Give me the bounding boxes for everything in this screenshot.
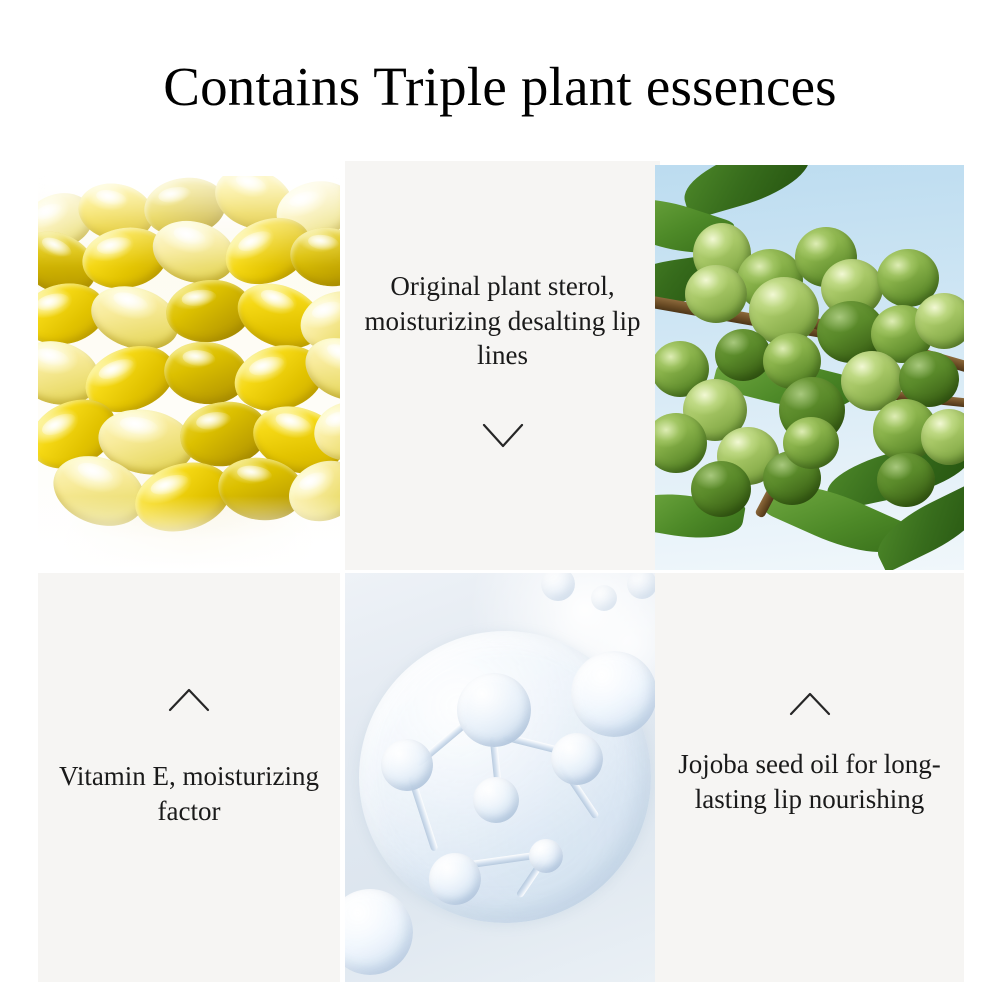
infographic-page: Contains Triple plant essences — [0, 0, 1000, 1000]
transparent-molecule-bubble-photo — [345, 573, 660, 982]
molecule-image-panel — [345, 573, 660, 982]
sterol-text-panel: Original plant sterol, moisturizing desa… — [345, 161, 660, 570]
jojoba-text-panel: Jojoba seed oil for long-lasting lip nou… — [655, 573, 964, 982]
sterol-caption: Original plant sterol, moisturizing desa… — [345, 269, 660, 373]
green-jojoba-fruit-branch-photo — [655, 165, 964, 570]
vitamin-text-panel: Vitamin E, moisturizing factor — [38, 573, 340, 982]
chevron-down-icon — [482, 423, 524, 449]
photo-bottom-fade — [38, 496, 340, 570]
fruit-image-panel — [655, 165, 964, 570]
chevron-up-icon — [789, 691, 831, 717]
golden-softgel-capsules-photo — [38, 176, 340, 570]
photo-top-blur — [38, 176, 340, 266]
vitamin-caption: Vitamin E, moisturizing factor — [38, 759, 340, 828]
chevron-up-icon — [168, 687, 210, 713]
jojoba-caption: Jojoba seed oil for long-lasting lip nou… — [655, 747, 964, 816]
page-title: Contains Triple plant essences — [0, 58, 1000, 116]
capsules-image-panel — [38, 176, 340, 570]
